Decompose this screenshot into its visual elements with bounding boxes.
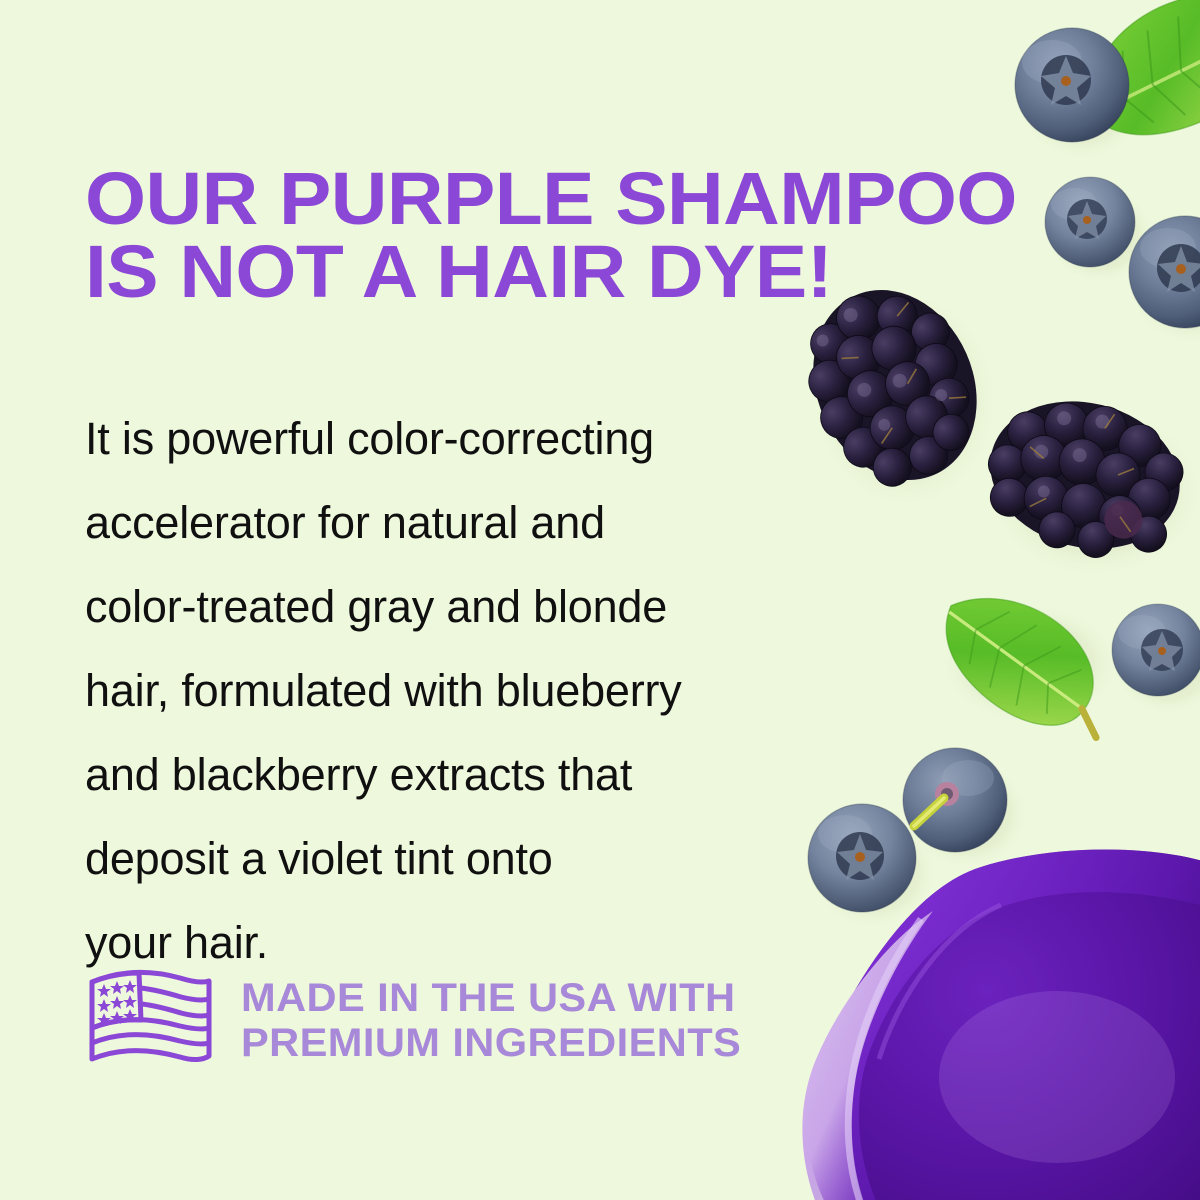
- made-in-usa-label: MADE IN THE USA WITH PREMIUM INGREDIENTS: [241, 976, 741, 1066]
- made-in-usa-badge: MADE IN THE USA WITH PREMIUM INGREDIENTS: [85, 968, 722, 1073]
- text-column: OUR PURPLE SHAMPOO IS NOT A HAIR DYE! It…: [85, 0, 945, 1200]
- blueberry-upper-mid-icon: [1045, 177, 1135, 267]
- calyx-crown: [1067, 199, 1107, 239]
- blueberry-mid-right-icon: [1112, 604, 1200, 696]
- page-title: OUR PURPLE SHAMPOO IS NOT A HAIR DYE!: [85, 162, 1018, 309]
- calyx-crown: [1041, 55, 1091, 105]
- mint-leaf-top-corner-icon: [1059, 0, 1200, 168]
- body-paragraph: It is powerful color-correcting accelera…: [85, 397, 845, 985]
- infographic-canvas: OUR PURPLE SHAMPOO IS NOT A HAIR DYE! It…: [0, 0, 1200, 1200]
- blueberry-right-edge-icon: [1129, 216, 1200, 328]
- blackberry-lower-icon: [972, 382, 1196, 574]
- calyx-crown: [1157, 244, 1200, 292]
- usa-flag-icon: [85, 968, 215, 1073]
- flag-stars: [97, 980, 137, 1026]
- mint-leaf-middle-icon: [919, 568, 1137, 762]
- calyx-crown: [1141, 629, 1183, 671]
- blueberry-top-left-icon: [1015, 28, 1129, 142]
